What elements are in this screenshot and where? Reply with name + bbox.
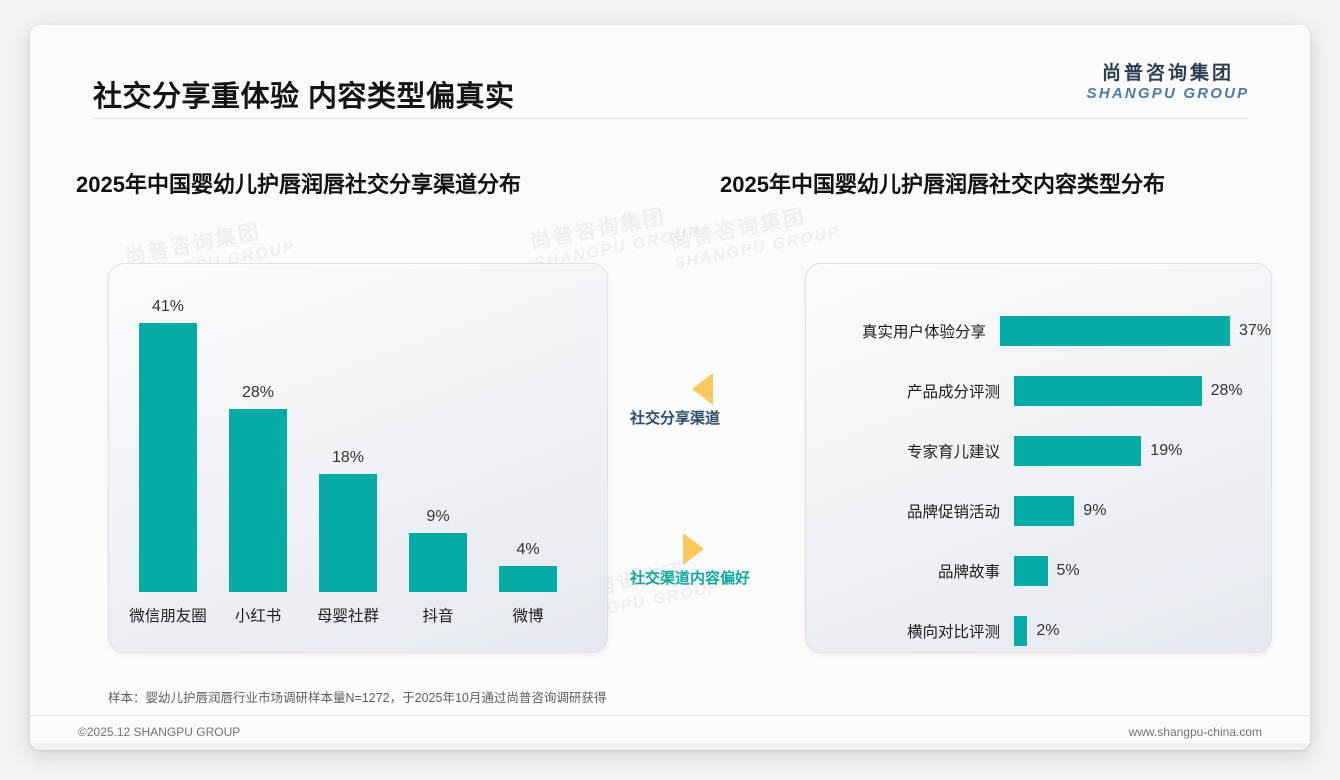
bar-category-label: 小红书 — [235, 604, 282, 626]
bar-row: 产品成分评测28% — [806, 376, 1271, 406]
bar-row: 品牌故事5% — [806, 556, 1271, 586]
bar-value-label: 19% — [1150, 442, 1182, 460]
right-chart-card: 真实用户体验分享37%产品成分评测28%专家育儿建议19%品牌促销活动9%品牌故… — [805, 263, 1272, 653]
slide-header: 社交分享重体验 内容类型偏真实 尚普咨询集团 SHANGPU GROUP — [30, 25, 1310, 118]
logo-english-text: SHANGPU GROUP — [1068, 85, 1268, 104]
bar-value-label: 28% — [229, 384, 287, 402]
right-chart-title: 2025年中国婴幼儿护唇润唇社交内容类型分布 — [720, 167, 1165, 199]
bar-column: 4%微博 — [499, 541, 557, 592]
sample-footnote: 样本：婴幼儿护唇润唇行业市场调研样本量N=1272，于2025年10月通过尚普咨… — [108, 687, 606, 706]
bar — [1014, 436, 1141, 466]
watermark: 尚普咨询集团 SHANGPU GROUP — [667, 194, 842, 273]
bar-row: 横向对比评测2% — [806, 616, 1271, 646]
bar — [1014, 496, 1074, 526]
bar — [229, 409, 287, 592]
bar-row: 真实用户体验分享37% — [806, 316, 1271, 346]
bar-column: 41%微信朋友圈 — [139, 298, 197, 592]
bar-category-label: 微博 — [512, 604, 543, 626]
bar-value-label: 5% — [1057, 562, 1080, 580]
triangle-left-icon — [692, 373, 713, 405]
bar — [139, 323, 197, 592]
website-link[interactable]: www.shangpu-china.com — [1129, 725, 1262, 739]
bar-category-label: 横向对比评测 — [806, 620, 1014, 642]
copyright-text: ©2025.12 SHANGPU GROUP — [78, 725, 240, 739]
bar-row: 品牌促销活动9% — [806, 496, 1271, 526]
bar-column: 18%母婴社群 — [319, 449, 377, 592]
bar-category-label: 品牌促销活动 — [806, 500, 1014, 522]
horizontal-bar-chart: 真实用户体验分享37%产品成分评测28%专家育儿建议19%品牌促销活动9%品牌故… — [806, 264, 1271, 652]
bar — [1014, 616, 1027, 646]
bar-column: 28%小红书 — [229, 384, 287, 592]
bar-value-label: 18% — [319, 449, 377, 467]
annotation-social-share-channel: 社交分享渠道 — [630, 373, 720, 428]
slide-canvas: 社交分享重体验 内容类型偏真实 尚普咨询集团 SHANGPU GROUP 202… — [30, 25, 1310, 750]
bar-value-label: 28% — [1211, 382, 1243, 400]
bar — [409, 533, 467, 592]
brand-logo: 尚普咨询集团 SHANGPU GROUP — [1068, 63, 1268, 104]
header-divider — [93, 118, 1248, 119]
bar-category-label: 产品成分评测 — [806, 380, 1014, 402]
page-title: 社交分享重体验 内容类型偏真实 — [93, 73, 515, 115]
bar-value-label: 4% — [499, 541, 557, 559]
bar-value-label: 41% — [139, 298, 197, 316]
bar-category-label: 微信朋友圈 — [129, 604, 207, 626]
bar — [1014, 376, 1202, 406]
annotation-content-preference: 社交渠道内容偏好 — [630, 533, 750, 588]
watermark: 尚普咨询集团 SHANGPU GROUP — [527, 194, 702, 273]
bar-value-label: 37% — [1239, 322, 1271, 340]
annotation-label: 社交渠道内容偏好 — [630, 567, 750, 588]
annotation-label: 社交分享渠道 — [630, 407, 720, 428]
triangle-right-icon — [683, 533, 704, 565]
left-chart-title: 2025年中国婴幼儿护唇润唇社交分享渠道分布 — [76, 167, 521, 199]
vertical-bar-chart: 41%微信朋友圈28%小红书18%母婴社群9%抖音4%微博 — [109, 264, 607, 652]
bar-category-label: 专家育儿建议 — [806, 440, 1014, 462]
bar-category-label: 真实用户体验分享 — [806, 320, 1000, 342]
bar-category-label: 抖音 — [422, 604, 453, 626]
bar-value-label: 9% — [409, 508, 467, 526]
bottom-strip — [30, 743, 1310, 750]
bar — [319, 474, 377, 592]
bar-column: 9%抖音 — [409, 508, 467, 592]
bar — [1014, 556, 1048, 586]
bar — [1000, 316, 1230, 346]
bar-value-label: 9% — [1083, 502, 1106, 520]
bar-row: 专家育儿建议19% — [806, 436, 1271, 466]
logo-chinese-text: 尚普咨询集团 — [1068, 63, 1268, 85]
bar-category-label: 母婴社群 — [317, 604, 379, 626]
bar-category-label: 品牌故事 — [806, 560, 1014, 582]
bar — [499, 566, 557, 592]
left-chart-card: 41%微信朋友圈28%小红书18%母婴社群9%抖音4%微博 — [108, 263, 608, 653]
bar-value-label: 2% — [1036, 622, 1059, 640]
